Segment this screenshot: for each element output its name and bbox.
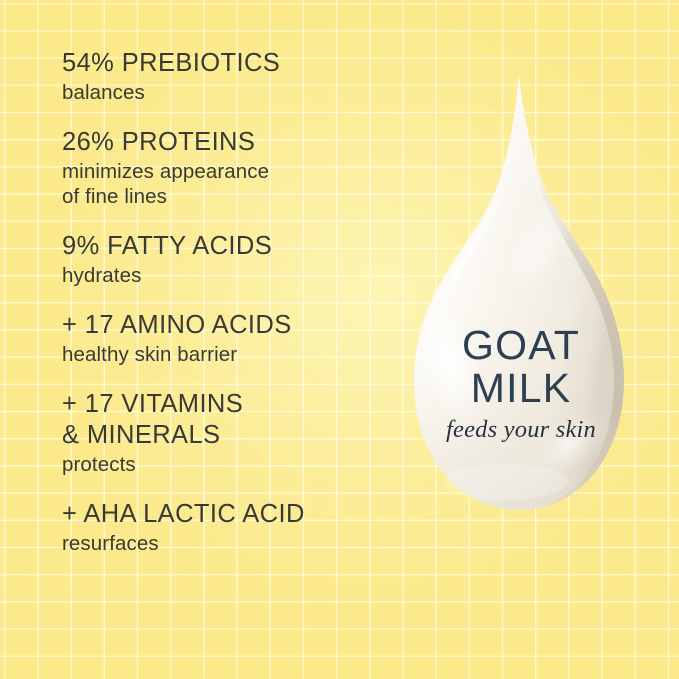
ingredient-title: + AHA LACTIC ACID [62, 499, 382, 530]
ingredient-description: protects [62, 452, 382, 477]
ingredient-list: 54% PREBIOTICS balances 26% PROTEINS min… [62, 48, 382, 578]
ingredient-title: 9% FATTY ACIDS [62, 231, 382, 262]
ingredient-description: minimizes appearance of fine lines [62, 159, 382, 209]
list-item: 9% FATTY ACIDS hydrates [62, 231, 382, 288]
ingredient-description: balances [62, 80, 382, 105]
ingredient-title: 54% PREBIOTICS [62, 48, 382, 79]
list-item: 26% PROTEINS minimizes appearance of fin… [62, 127, 382, 209]
ingredient-title: + 17 AMINO ACIDS [62, 310, 382, 341]
milk-droplet-icon [388, 58, 654, 558]
infographic-canvas: 54% PREBIOTICS balances 26% PROTEINS min… [0, 0, 679, 679]
droplet-illustration: GOAT MILK feeds your skin [388, 58, 654, 558]
list-item: + 17 VITAMINS & MINERALS protects [62, 389, 382, 477]
list-item: + AHA LACTIC ACID resurfaces [62, 499, 382, 556]
ingredient-description: hydrates [62, 263, 382, 288]
ingredient-description: resurfaces [62, 531, 382, 556]
ingredient-title: + 17 VITAMINS & MINERALS [62, 389, 382, 451]
ingredient-description: healthy skin barrier [62, 342, 382, 367]
list-item: 54% PREBIOTICS balances [62, 48, 382, 105]
list-item: + 17 AMINO ACIDS healthy skin barrier [62, 310, 382, 367]
ingredient-title: 26% PROTEINS [62, 127, 382, 158]
